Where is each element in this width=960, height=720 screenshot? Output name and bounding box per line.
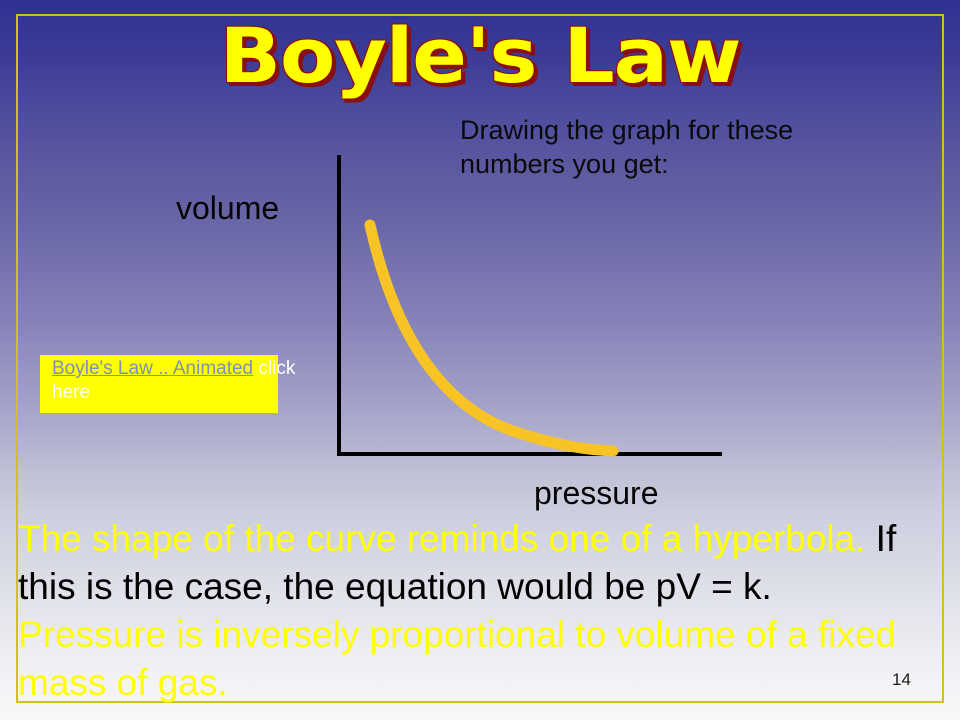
- body-segment-3: Pressure is inversely proportional to vo…: [18, 614, 896, 703]
- body-segment-1: The shape of the curve reminds one of a …: [18, 518, 865, 559]
- slide-canvas: Boyle's Law Drawing the graph for these …: [0, 0, 960, 720]
- graph-figure: [330, 155, 725, 465]
- page-number: 14: [892, 670, 911, 690]
- boyles-law-animated-link[interactable]: Boyle's Law .. Animated: [52, 358, 253, 379]
- hyperlink-callout[interactable]: Boyle's Law .. Animated click here: [52, 357, 312, 405]
- hyperbola-curve: [330, 155, 725, 465]
- curve-stroke: [370, 225, 613, 451]
- body-paragraph: The shape of the curve reminds one of a …: [18, 515, 898, 707]
- x-axis-label: pressure: [534, 475, 659, 512]
- page-title: Boyle's Law: [0, 14, 960, 98]
- y-axis-label: volume: [176, 190, 279, 227]
